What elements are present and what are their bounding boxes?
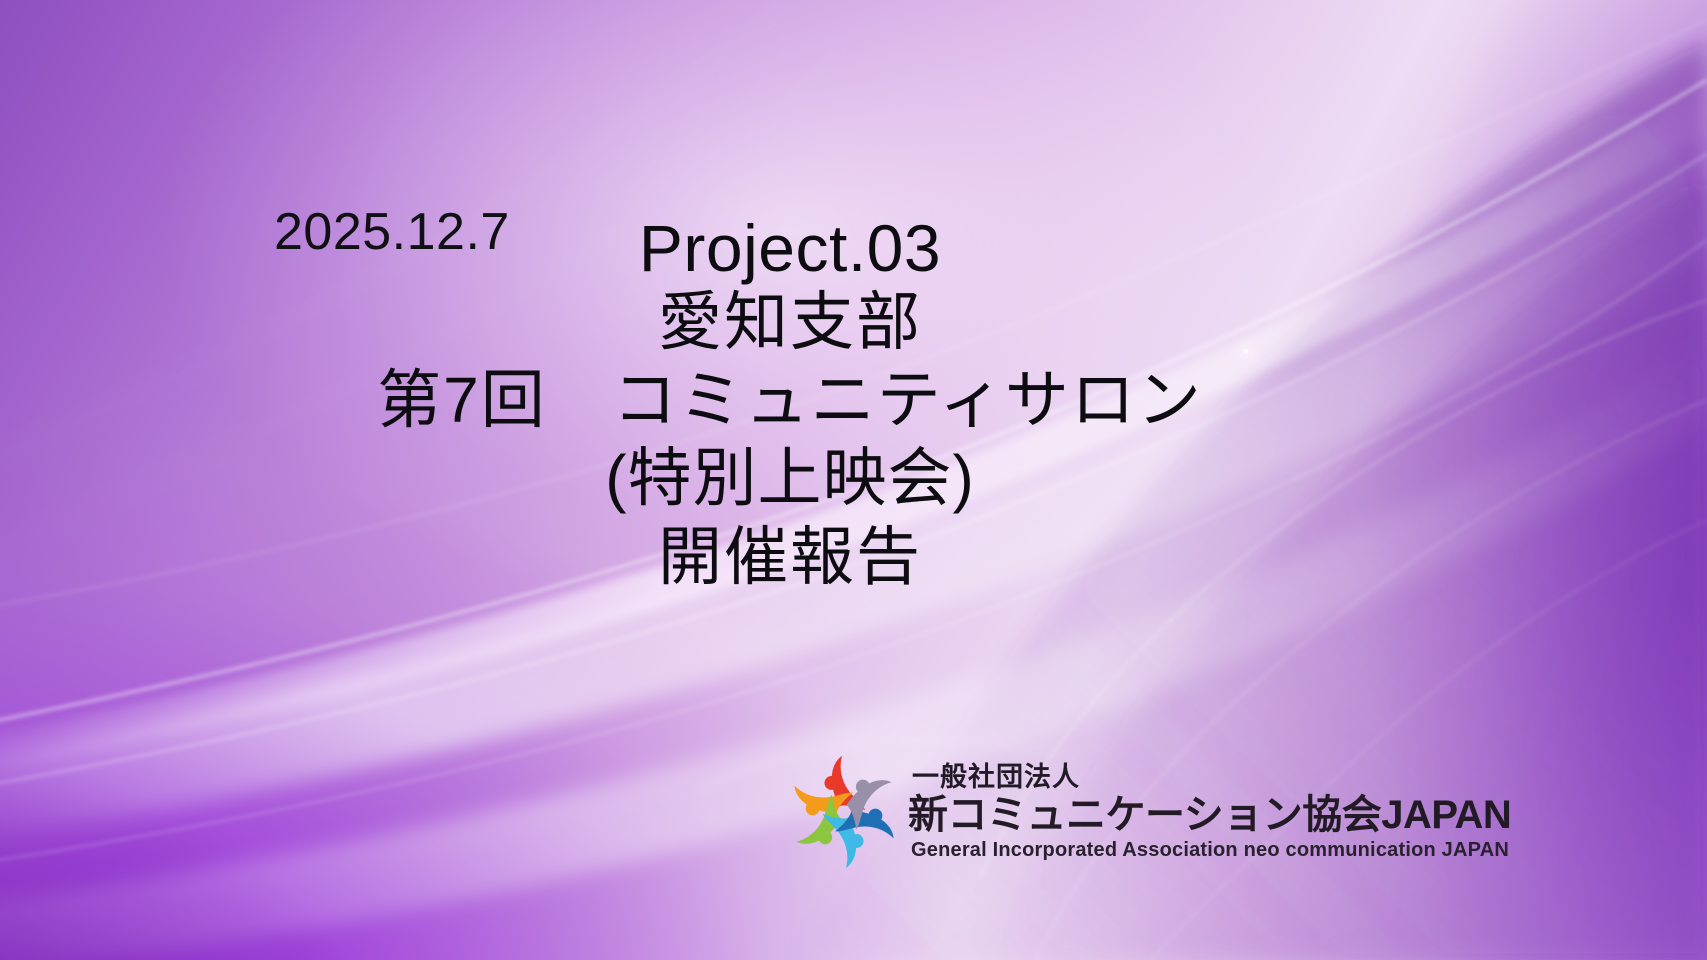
title-line-salon: 第7回 コミュニティサロン bbox=[340, 365, 1240, 435]
presentation-slide: 2025.12.7 Project.03 愛知支部 第7回 コミュニティサロン … bbox=[0, 0, 1707, 960]
title-line-project: Project.03 bbox=[340, 212, 1240, 285]
pinwheel-people-logo-icon bbox=[786, 754, 902, 870]
title-block: Project.03 愛知支部 第7回 コミュニティサロン (特別上映会) 開催… bbox=[340, 212, 1240, 592]
organization-kicker: 一般社団法人 bbox=[908, 762, 1511, 793]
organization-name: 新コミュニケーション協会JAPAN bbox=[908, 793, 1511, 838]
title-line-branch: 愛知支部 bbox=[340, 287, 1240, 357]
organization-name-english: General Incorporated Association neo com… bbox=[908, 838, 1511, 862]
organization-name-block: 一般社団法人 新コミュニケーション協会JAPAN General Incorpo… bbox=[908, 762, 1511, 862]
organization-logo: 一般社団法人 新コミュニケーション協会JAPAN General Incorpo… bbox=[786, 752, 1431, 872]
sparkle-icon bbox=[1241, 347, 1250, 356]
title-line-report: 開催報告 bbox=[340, 522, 1240, 592]
title-line-special: (特別上映会) bbox=[340, 443, 1240, 513]
